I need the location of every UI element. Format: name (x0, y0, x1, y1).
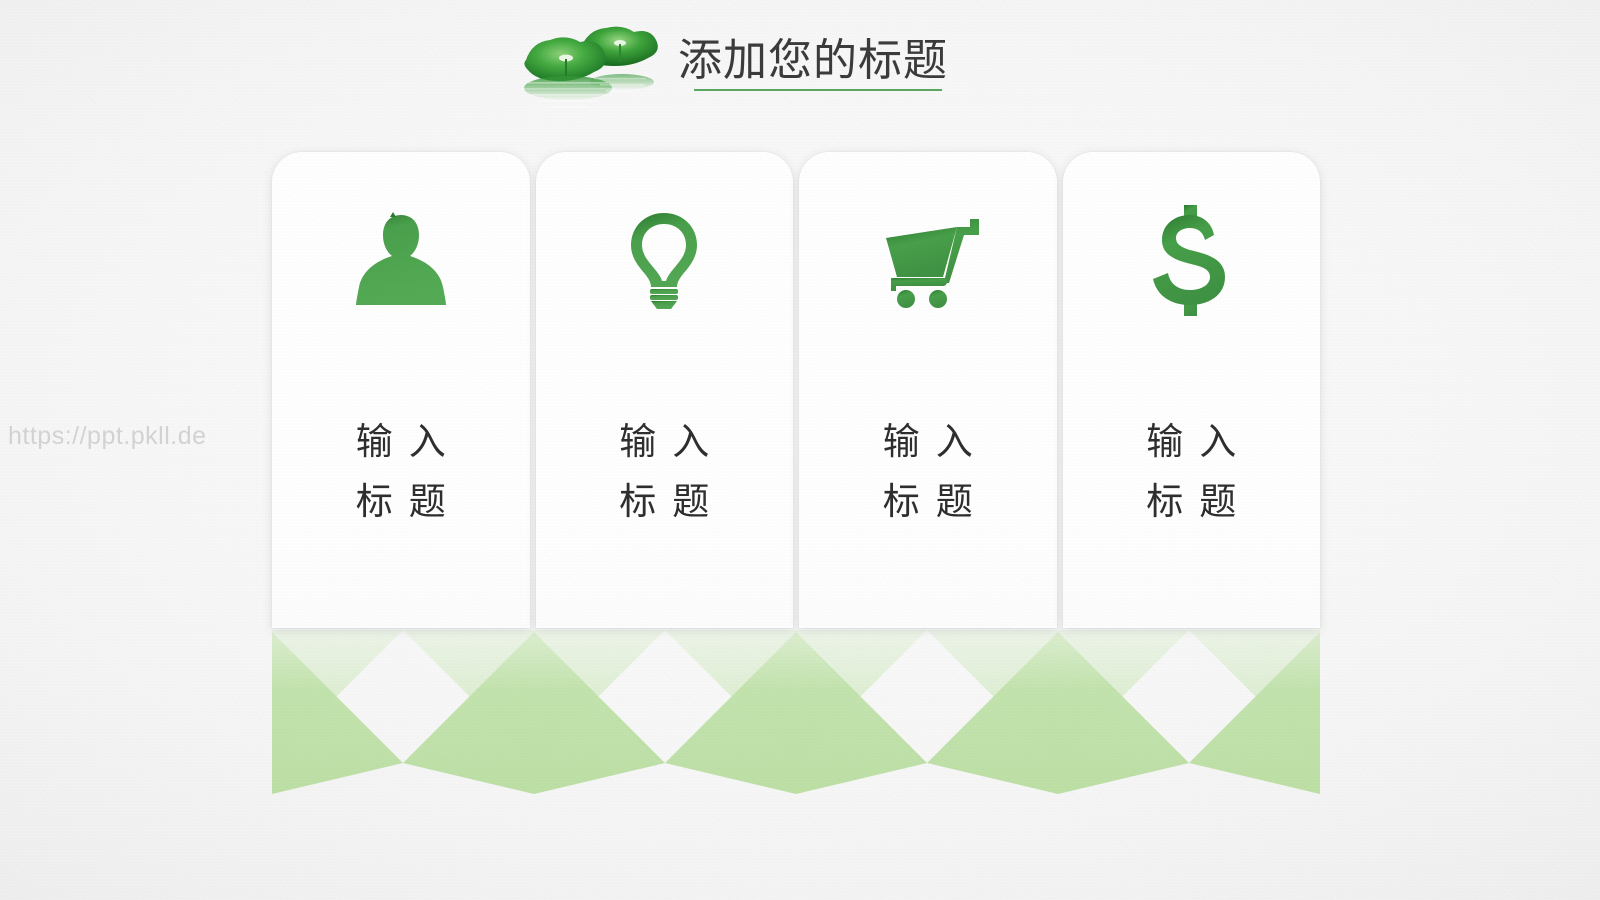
page-title: 添加您的标题 (678, 38, 948, 84)
card-3[interactable]: 输入 标题 (799, 152, 1057, 628)
user-person-icon (341, 200, 461, 320)
card-3-label: 输入 标题 (867, 412, 989, 532)
card-1-label-line1: 输入 (340, 412, 462, 472)
card-2-label-line2: 标题 (603, 472, 725, 532)
card-3-label-line2: 标题 (867, 472, 989, 532)
slide-canvas: 添加您的标题 https://ppt.pkll.de (0, 0, 1600, 900)
shopping-cart-icon (868, 200, 988, 320)
card-1[interactable]: 输入 标题 (272, 152, 530, 628)
card-2[interactable]: 输入 标题 (536, 152, 794, 628)
lightbulb-icon (604, 200, 724, 320)
card-4-label: 输入 标题 (1130, 412, 1252, 532)
slide-header: 添加您的标题 (510, 8, 1050, 118)
watermark-url: https://ppt.pkll.de (8, 422, 207, 451)
lotus-leaves-icon (510, 12, 670, 116)
title-underline (694, 89, 942, 91)
card-row: 输入 标题 (272, 152, 1320, 628)
card-4[interactable]: 输入 标题 (1063, 152, 1321, 628)
card-4-label-line2: 标题 (1130, 472, 1252, 532)
page-title-group: 添加您的标题 (678, 38, 948, 91)
card-2-label: 输入 标题 (603, 412, 725, 532)
card-3-label-line1: 输入 (867, 412, 989, 472)
card-4-label-line1: 输入 (1130, 412, 1252, 472)
card-1-label: 输入 标题 (340, 412, 462, 532)
dollar-sign-icon (1131, 200, 1251, 320)
card-2-label-line1: 输入 (603, 412, 725, 472)
card-1-label-line2: 标题 (340, 472, 462, 532)
decor-diamond-band (272, 620, 1320, 820)
